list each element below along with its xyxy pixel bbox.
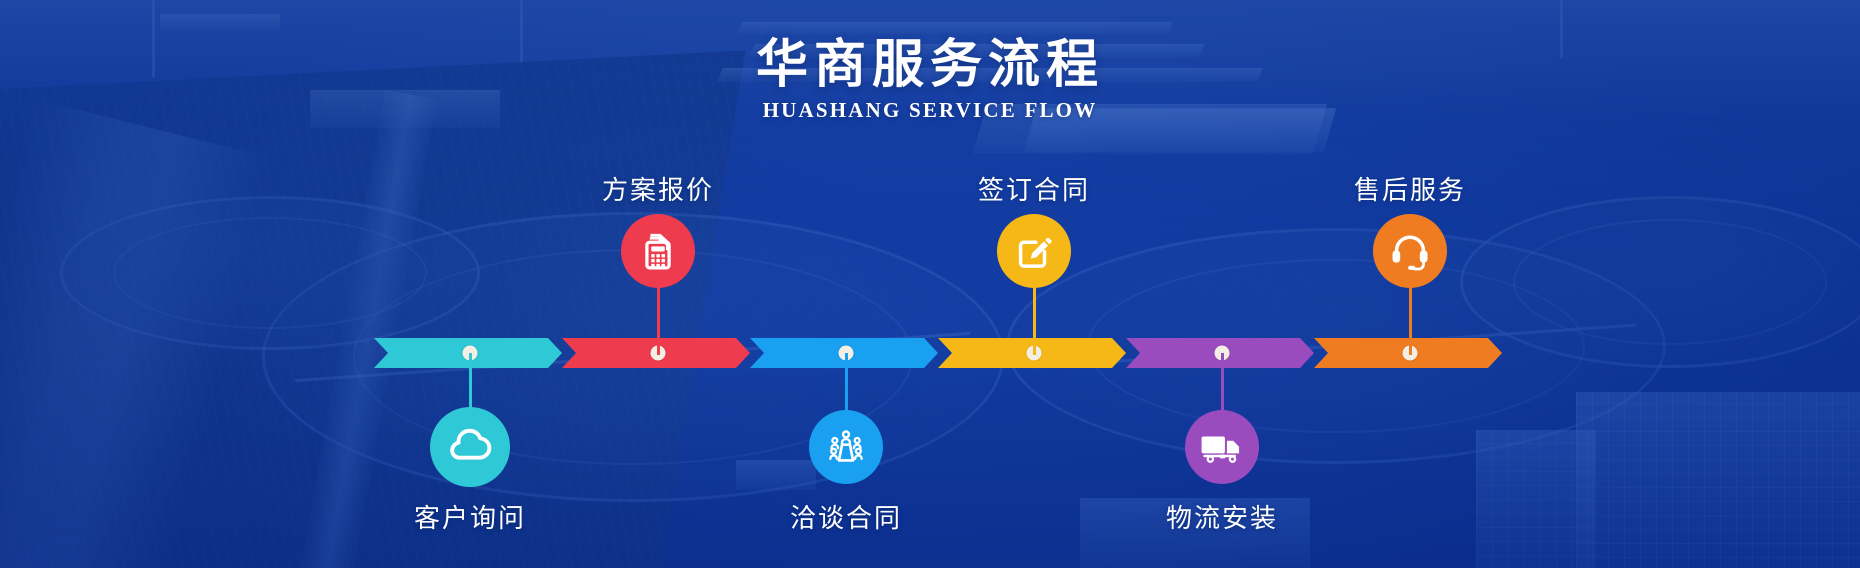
flow-arrow-strip <box>374 338 1502 368</box>
flow-step-label-6: 售后服务 <box>1354 170 1466 207</box>
flow-step-node-5[interactable] <box>1185 410 1259 484</box>
flow-connector-3 <box>845 353 848 414</box>
headset-support-icon <box>1382 223 1438 279</box>
pen-edit-icon <box>1006 223 1062 279</box>
flow-connector-6 <box>1409 286 1412 355</box>
meeting-table-icon <box>818 419 874 475</box>
flow-step-label-3: 洽谈合同 <box>790 498 902 535</box>
page-subtitle: HUASHANG SERVICE FLOW <box>0 98 1860 123</box>
flow-connector-4 <box>1033 286 1036 355</box>
flow-step-label-4: 签订合同 <box>978 170 1090 207</box>
flow-connector-2 <box>657 286 660 355</box>
flow-connector-1 <box>469 353 472 411</box>
service-flow-banner: 华商服务流程 HUASHANG SERVICE FLOW 客户询问 方案报价 <box>0 0 1860 568</box>
calculator-quote-icon <box>630 223 686 279</box>
flow-step-label-2: 方案报价 <box>602 170 714 207</box>
flow-step-node-4[interactable] <box>997 214 1071 288</box>
flow-step-node-6[interactable] <box>1373 214 1447 288</box>
flow-connector-5 <box>1221 353 1224 414</box>
flow-step-label-1: 客户询问 <box>414 498 526 535</box>
delivery-truck-icon <box>1194 419 1250 475</box>
flow-step-node-2[interactable] <box>621 214 695 288</box>
cloud-chat-icon <box>440 417 500 477</box>
page-title: 华商服务流程 <box>0 22 1860 97</box>
flow-step-label-5: 物流安装 <box>1166 498 1278 535</box>
flow-step-node-1[interactable] <box>430 407 510 487</box>
flow-step-node-3[interactable] <box>809 410 883 484</box>
